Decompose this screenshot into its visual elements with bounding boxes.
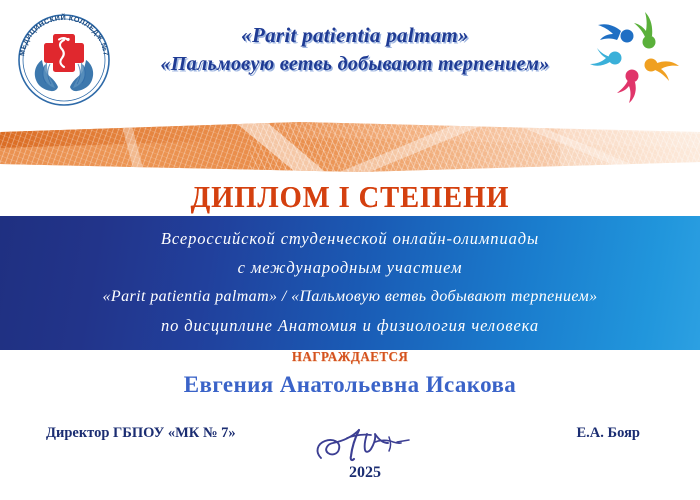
header-motto-block: «Parit patientia palmam» «Пальмовую ветв… xyxy=(130,22,580,77)
motto-russian: «Пальмовую ветвь добывают терпением» xyxy=(130,51,580,77)
description-line-4: по дисциплине Анатомия и физиология чело… xyxy=(0,311,700,340)
awarded-label: НАГРАЖДАЕТСЯ xyxy=(28,350,672,366)
diploma-certificate: МЕДИЦИНСКИЙ КОЛЛЕДЖ №7 xyxy=(0,0,700,500)
medical-college-emblem-icon: МЕДИЦИНСКИЙ КОЛЛЕДЖ №7 xyxy=(12,8,116,112)
description-line-3: «Parit patientia palmam» / «Пальмовую ве… xyxy=(0,282,700,311)
handwritten-signature-icon xyxy=(305,418,425,466)
signature-block: 2025 xyxy=(305,418,425,490)
description-line-2: с международным участием xyxy=(0,253,700,282)
page-title: ДИПЛОМ I СТЕПЕНИ xyxy=(28,179,672,215)
olympiad-people-circle-icon xyxy=(590,6,686,106)
motto-latin: «Parit patientia palmam» xyxy=(130,22,580,48)
certificate-header: МЕДИЦИНСКИЙ КОЛЛЕДЖ №7 xyxy=(0,0,700,118)
olympiad-description-band: Всероссийской студенческой онлайн-олимпи… xyxy=(0,216,700,350)
olympiad-description-text: Всероссийской студенческой онлайн-олимпи… xyxy=(0,224,700,340)
orange-ribbon-wave-band-icon xyxy=(0,118,700,176)
description-line-1: Всероссийской студенческой онлайн-олимпи… xyxy=(0,224,700,253)
recipient-name: Евгения Анатольевна Исакова xyxy=(0,372,700,398)
director-title: Директор ГБПОУ «МК № 7» xyxy=(46,425,236,442)
signer-name: Е.А. Бояр xyxy=(577,425,641,442)
signature-year: 2025 xyxy=(305,464,425,482)
